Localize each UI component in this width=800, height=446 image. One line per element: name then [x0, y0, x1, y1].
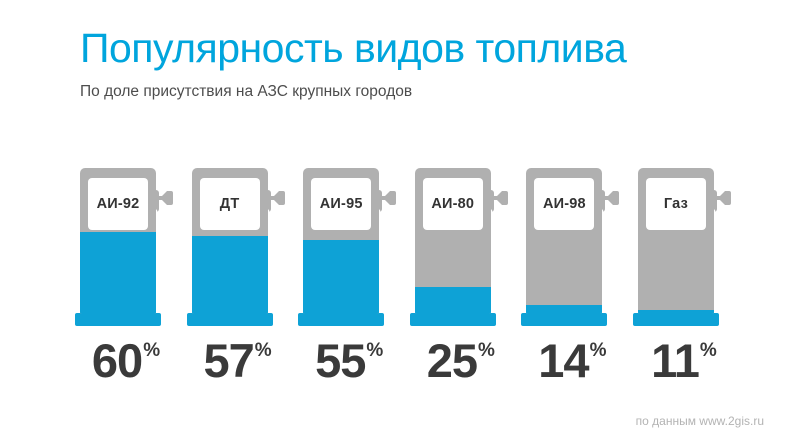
percent-sign: %: [255, 339, 272, 363]
pump-item: Газ: [638, 168, 730, 326]
percent-value: 11 %: [638, 336, 730, 386]
pump-item: АИ-95: [303, 168, 395, 326]
pump-label-panel: АИ-98: [534, 178, 594, 230]
percent-number: 25: [427, 336, 477, 386]
percent-value-row: 60 % 57 % 55 % 25 % 14 % 11 %: [80, 336, 730, 386]
page-title: Популярность видов топлива: [80, 24, 760, 72]
pump-item: АИ-98: [526, 168, 618, 326]
percent-sign: %: [590, 339, 607, 363]
percent-value: 55 %: [303, 336, 395, 386]
pump-fill-level: [303, 240, 379, 315]
pump-label: АИ-95: [320, 196, 363, 212]
pump-label-panel: АИ-95: [311, 178, 371, 230]
pump-base: [410, 313, 496, 326]
percent-number: 11: [651, 336, 699, 386]
pump-fill-level: [638, 310, 714, 315]
pump-label-panel: Газ: [646, 178, 706, 230]
pump-label: АИ-80: [431, 196, 474, 212]
percent-value: 60 %: [80, 336, 172, 386]
pump-fill-level: [415, 287, 491, 314]
pump-item: АИ-80: [415, 168, 507, 326]
percent-number: 60: [92, 336, 142, 386]
pump-item: ДТ: [192, 168, 284, 326]
pump-label: ДТ: [220, 196, 240, 212]
pump-label: АИ-92: [97, 196, 140, 212]
pump-label-panel: АИ-80: [423, 178, 483, 230]
percent-sign: %: [478, 339, 495, 363]
pump-label-panel: ДТ: [200, 178, 260, 230]
pump-label-panel: АИ-92: [88, 178, 148, 230]
percent-value: 14 %: [526, 336, 618, 386]
pump-fill-level: [526, 305, 602, 314]
percent-number: 55: [315, 336, 365, 386]
page-subtitle: По доле присутствия на АЗС крупных город…: [80, 82, 760, 102]
source-attribution: по данным www.2gis.ru: [636, 414, 764, 428]
pump-base: [187, 313, 273, 326]
pump-label: АИ-98: [543, 196, 586, 212]
fuel-pump-chart: АИ-92 ДТ: [80, 168, 730, 326]
percent-number: 14: [538, 336, 588, 386]
percent-sign: %: [366, 339, 383, 363]
header: Популярность видов топлива По доле прису…: [80, 24, 760, 102]
percent-value: 57 %: [192, 336, 284, 386]
pump-fill-level: [80, 232, 156, 314]
percent-value: 25 %: [415, 336, 507, 386]
pump-base: [75, 313, 161, 326]
pump-base: [298, 313, 384, 326]
pump-item: АИ-92: [80, 168, 172, 326]
pump-label: Газ: [664, 196, 688, 212]
pump-base: [521, 313, 607, 326]
pump-base: [633, 313, 719, 326]
percent-sign: %: [700, 339, 717, 363]
percent-sign: %: [143, 339, 160, 363]
pump-fill-level: [192, 236, 268, 314]
percent-number: 57: [204, 336, 254, 386]
